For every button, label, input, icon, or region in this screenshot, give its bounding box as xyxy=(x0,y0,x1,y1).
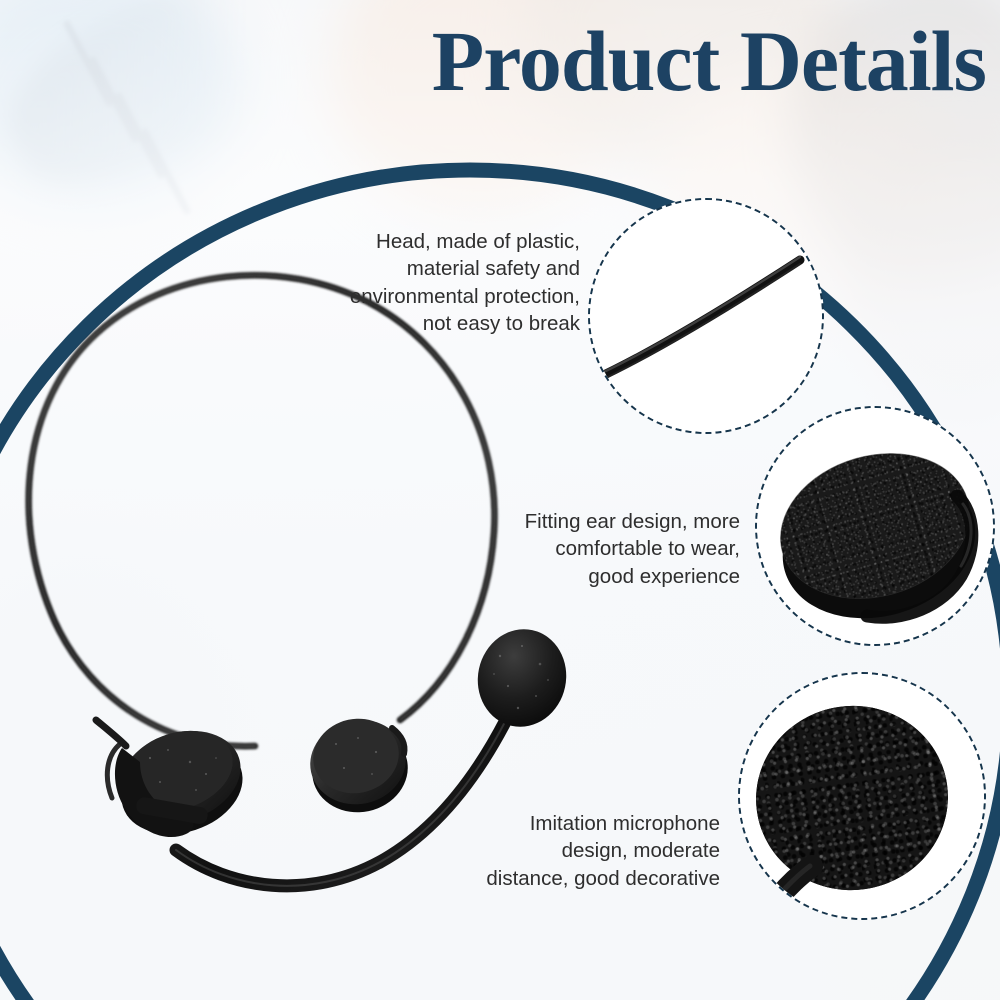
callout-fitting-ear: Fitting ear design, more comfortable to … xyxy=(420,508,740,590)
microphone-windscreen xyxy=(469,621,575,735)
detail-circle-earpad-content xyxy=(757,408,993,644)
page-title: Product Details xyxy=(0,18,986,104)
right-ear-pad xyxy=(302,711,415,821)
left-ear-pad xyxy=(96,716,255,849)
poster-stage: Product Details xyxy=(0,0,1000,1000)
product-details-poster: Product Details xyxy=(0,0,1000,1000)
headband-wire-closeup-art xyxy=(590,200,822,432)
callout-imitation-microphone: Imitation microphone design, moderate di… xyxy=(400,810,720,892)
microphone-boom-stub xyxy=(740,674,984,918)
detail-circle-microphone-content xyxy=(740,674,984,918)
detail-circle-earpad xyxy=(755,406,995,646)
detail-circle-headband-content xyxy=(590,200,822,432)
callout-head-material: Head, made of plastic, material safety a… xyxy=(240,228,580,337)
detail-circle-microphone xyxy=(738,672,986,920)
ear-pad-closeup-edges xyxy=(757,408,993,644)
detail-circle-headband xyxy=(588,198,824,434)
